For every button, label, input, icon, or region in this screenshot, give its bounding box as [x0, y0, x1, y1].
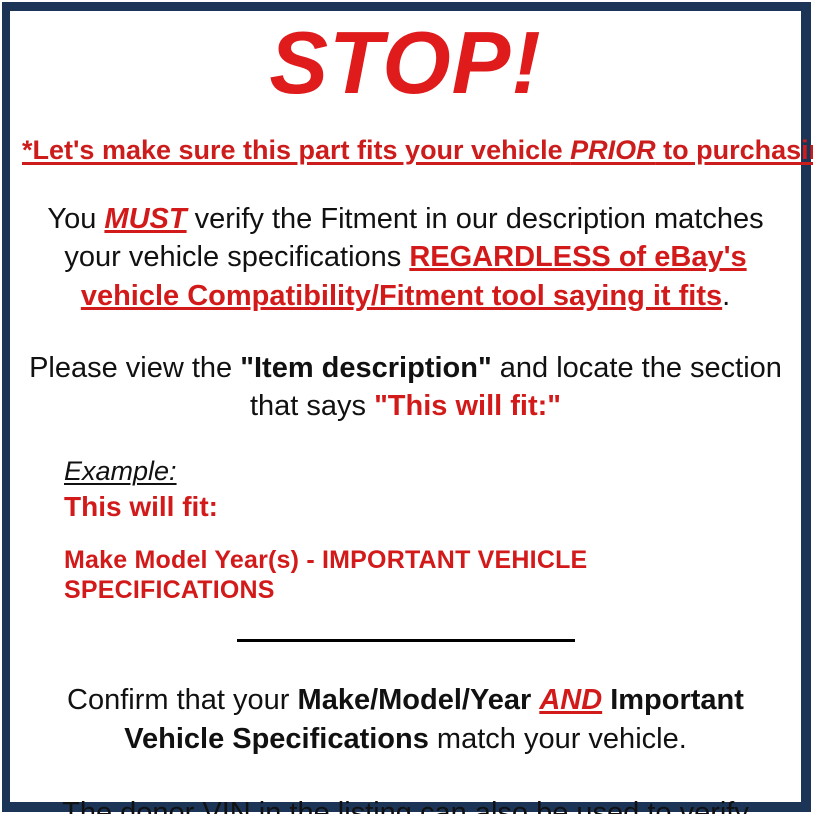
make-model-year-emphasis: Make/Model/Year [298, 684, 532, 716]
fitment-notice-card: STOP! *Let's make sure this part fits yo… [0, 0, 813, 814]
stop-headline: STOP! [22, 11, 789, 107]
must-paragraph-part3: . [722, 280, 730, 312]
must-paragraph-part1: You [47, 203, 104, 235]
example-block: Example: This will fit: Make Model Year(… [22, 425, 789, 605]
confirm-paragraph: Confirm that your Make/Model/Year AND Im… [22, 649, 789, 758]
subheadline-prefix: *Let's make sure this part fits your veh… [22, 135, 570, 165]
divider-wrap [22, 605, 789, 649]
vin-paragraph: The donor VIN in the listing can also be… [22, 758, 789, 814]
subheadline-prior-emphasis: PRIOR [570, 135, 656, 165]
notice-content: STOP! *Let's make sure this part fits yo… [10, 11, 801, 802]
card-border-top [2, 2, 811, 11]
confirm-paragraph-part3: match your vehicle. [429, 723, 687, 755]
must-emphasis: MUST [104, 203, 186, 235]
this-will-fit-quote: "This will fit:" [374, 390, 561, 422]
must-verify-paragraph: You MUST verify the Fitment in our descr… [22, 166, 789, 315]
view-paragraph-part1: Please view the [29, 352, 240, 384]
subheadline: *Let's make sure this part fits your veh… [22, 107, 789, 166]
confirm-paragraph-part1: Confirm that your [67, 684, 297, 716]
section-divider [237, 639, 575, 642]
example-spec-line: Make Model Year(s) - IMPORTANT VEHICLE S… [64, 523, 789, 605]
example-label: Example: [64, 455, 177, 487]
and-emphasis: AND [539, 684, 602, 716]
subheadline-suffix: to purchasing* [656, 135, 813, 165]
card-border-left [2, 2, 10, 812]
example-label-row: Example: [64, 455, 789, 487]
view-description-paragraph: Please view the "Item description" and l… [22, 315, 789, 426]
item-description-emphasis: "Item description" [240, 352, 491, 384]
example-fit-heading: This will fit: [64, 488, 789, 524]
card-border-right [801, 2, 811, 812]
